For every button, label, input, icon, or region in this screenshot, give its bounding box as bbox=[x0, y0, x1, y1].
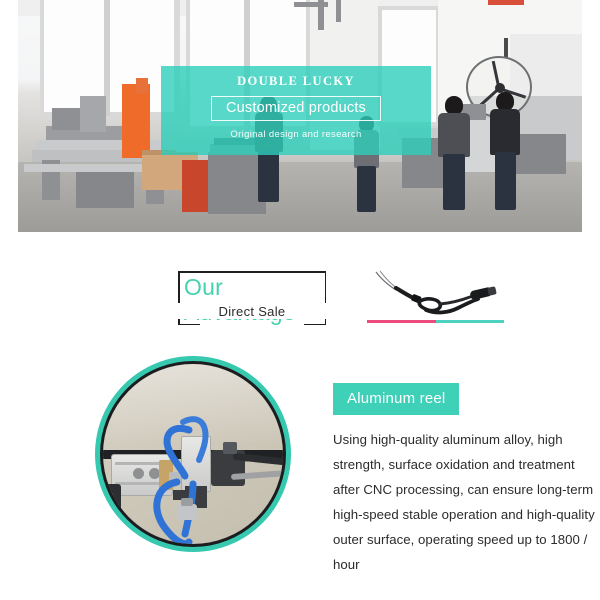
cable-photo bbox=[366, 270, 506, 318]
banner-overlay-panel: DOUBLE LUCKY Customized products Origina… bbox=[161, 66, 431, 155]
headline-text: Customized products bbox=[226, 100, 366, 116]
hero-banner: DOUBLE LUCKY Customized products Origina… bbox=[18, 0, 582, 232]
accent-rule bbox=[367, 320, 504, 323]
headline-box: Customized products bbox=[211, 96, 381, 121]
product-badge: Aluminum reel bbox=[333, 383, 459, 415]
rule-segment-teal bbox=[436, 320, 505, 323]
rule-segment-pink bbox=[367, 320, 436, 323]
tagline-text: Original design and research bbox=[230, 129, 361, 140]
wall-fan-mount bbox=[504, 38, 508, 58]
worker-4 bbox=[490, 92, 522, 212]
product-description: Using high-quality aluminum alloy, high … bbox=[333, 427, 595, 577]
product-info: Aluminum reel Using high-quality aluminu… bbox=[333, 383, 593, 577]
product-photo-ring bbox=[95, 356, 291, 552]
advantage-heading-block: Our Advantage Direct Sale bbox=[178, 271, 326, 325]
product-photo bbox=[100, 361, 286, 547]
brand-title: DOUBLE LUCKY bbox=[237, 74, 355, 89]
advantage-subtitle: Direct Sale bbox=[178, 303, 326, 319]
worker-3 bbox=[438, 96, 472, 212]
